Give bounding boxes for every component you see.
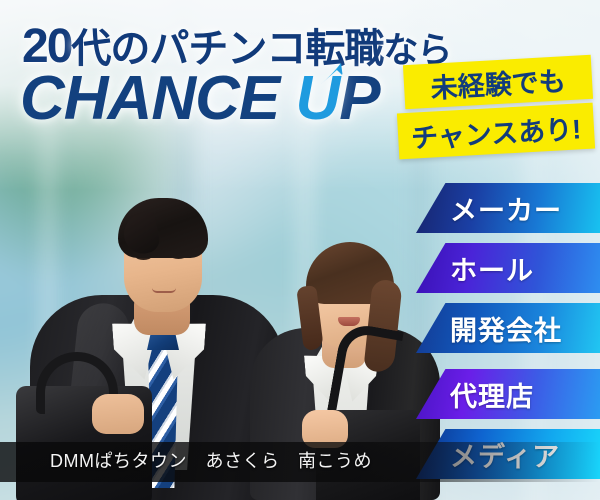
badge-hall-label: ホール <box>450 249 534 288</box>
badge-maker[interactable]: メーカー <box>416 183 600 233</box>
category-badge-list: メーカー ホール 開発会社 代理店 メディア <box>0 0 600 500</box>
caption-text: DMMぱちタウン あさくら 南こうめ <box>50 447 372 473</box>
badge-hall[interactable]: ホール <box>416 243 600 293</box>
chance-up-ad-banner[interactable]: 20代のパチンコ転職なら CHANCE U P 未経験でも チャンスあり! メー… <box>0 0 600 500</box>
badge-agency-label: 代理店 <box>450 375 534 414</box>
badge-agency[interactable]: 代理店 <box>416 369 600 419</box>
badge-maker-label: メーカー <box>450 189 562 228</box>
badge-development-company[interactable]: 開発会社 <box>416 303 600 353</box>
badge-development-company-label: 開発会社 <box>450 309 562 348</box>
